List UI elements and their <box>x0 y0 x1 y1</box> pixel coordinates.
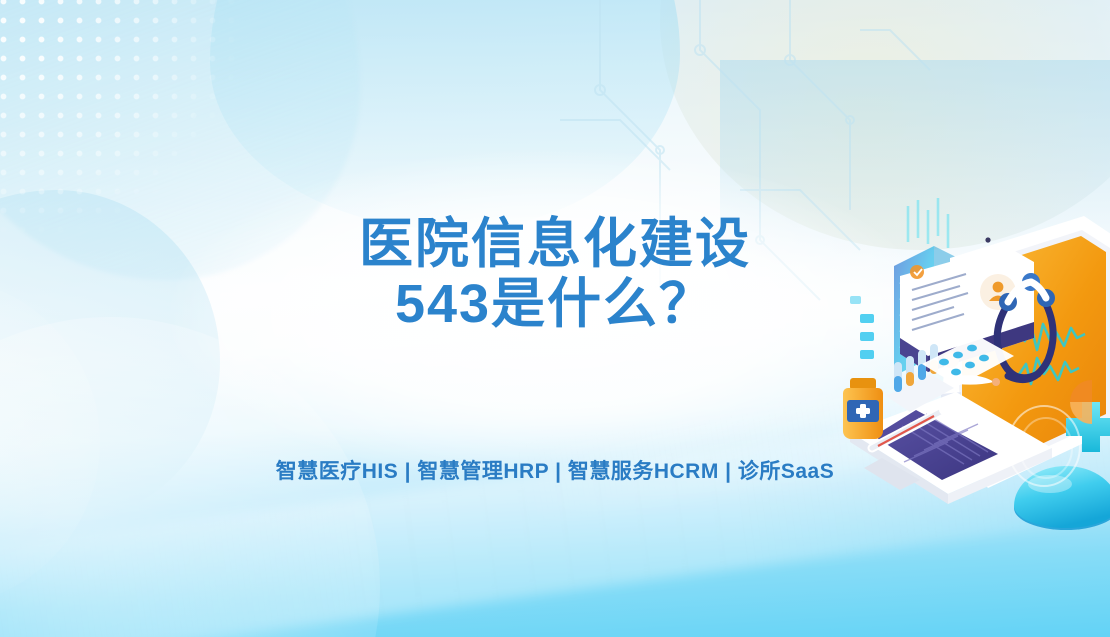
headline-block: 医院信息化建设 543是什么？ <box>0 214 1110 334</box>
marketing-banner: 医院信息化建设 543是什么？ 智慧医疗HIS | 智慧管理HRP | 智慧服务… <box>0 0 1110 637</box>
medicine-bottle-icon <box>843 378 883 439</box>
subtitle-text: 智慧医疗HIS | 智慧管理HRP | 智慧服务HCRM | 诊所SaaS <box>0 455 1110 485</box>
headline-line-2: 543是什么？ <box>0 274 1110 334</box>
blob-top-middle <box>210 0 680 230</box>
headline-line-1: 医院信息化建设 <box>0 214 1110 274</box>
